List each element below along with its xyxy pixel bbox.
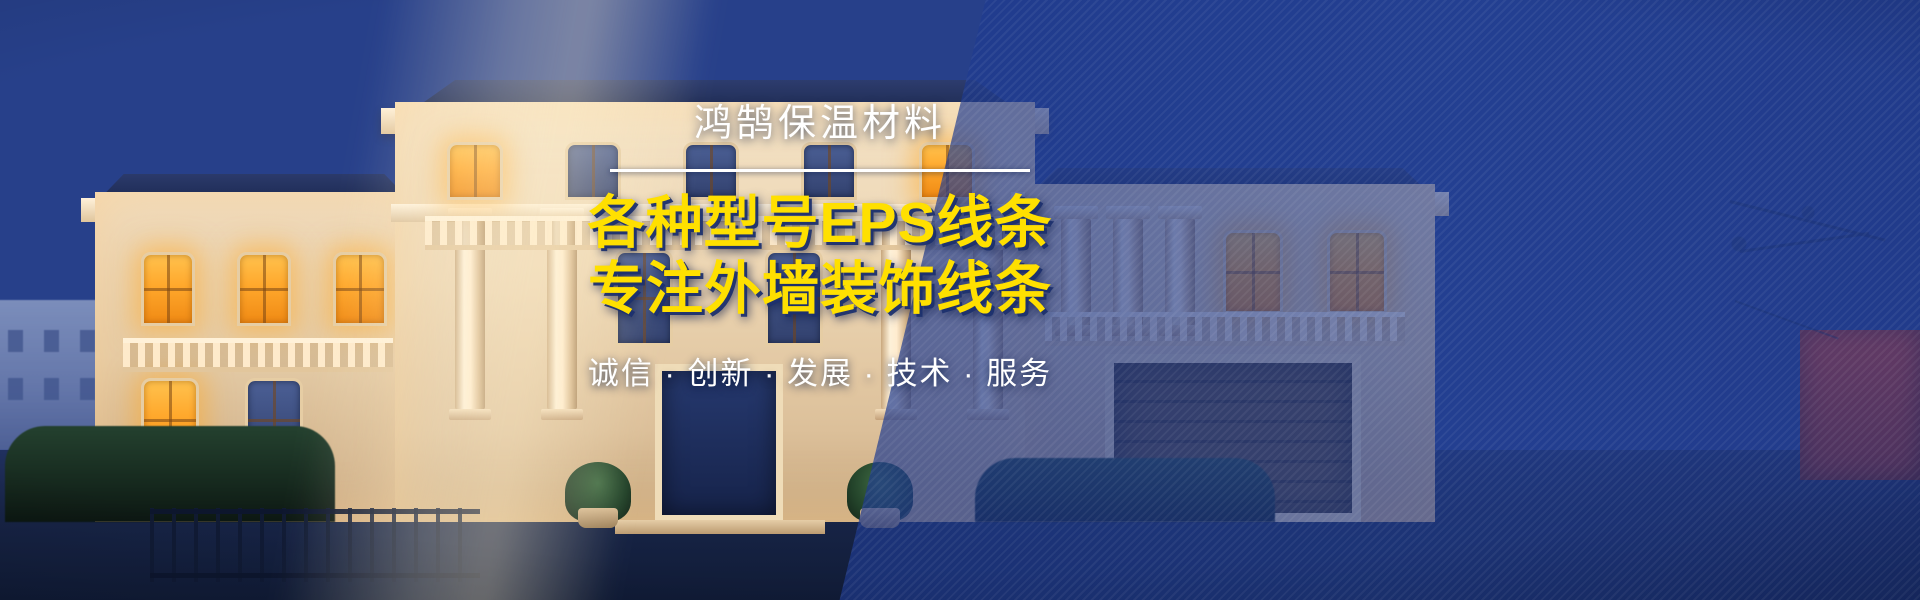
window-glowing (1327, 230, 1387, 314)
window-glowing (447, 142, 503, 200)
divider-rule (610, 169, 1030, 172)
balustrade (1045, 312, 1405, 346)
headline-line-1: 各种型号EPS线条 (560, 190, 1080, 256)
promo-banner: 鸿鹄保温材料 各种型号EPS线条 专注外墙装饰线条 诚信 · 创新 · 发展 ·… (0, 0, 1920, 600)
brand-name: 鸿鹄保温材料 (560, 92, 1080, 147)
fence-rail (150, 509, 480, 514)
column (1113, 218, 1143, 326)
entry-steps (615, 520, 825, 534)
window-glowing (237, 252, 291, 326)
banner-copy: 鸿鹄保温材料 各种型号EPS线条 专注外墙装饰线条 诚信 · 创新 · 发展 ·… (560, 92, 1080, 393)
planter-pot (578, 508, 618, 528)
tagline: 诚信 · 创新 · 发展 · 技术 · 服务 (560, 348, 1080, 393)
headline-line-2: 专注外墙装饰线条 (560, 256, 1080, 322)
hedge (975, 458, 1275, 522)
column (1165, 218, 1195, 326)
planter-pot (860, 508, 900, 528)
fence-rail (150, 573, 480, 578)
window-glowing (1223, 230, 1283, 314)
window-glowing (333, 252, 387, 326)
tree-branches (1670, 160, 1900, 370)
window-glowing (141, 252, 195, 326)
fence-railing (150, 508, 480, 582)
balustrade (123, 338, 393, 372)
